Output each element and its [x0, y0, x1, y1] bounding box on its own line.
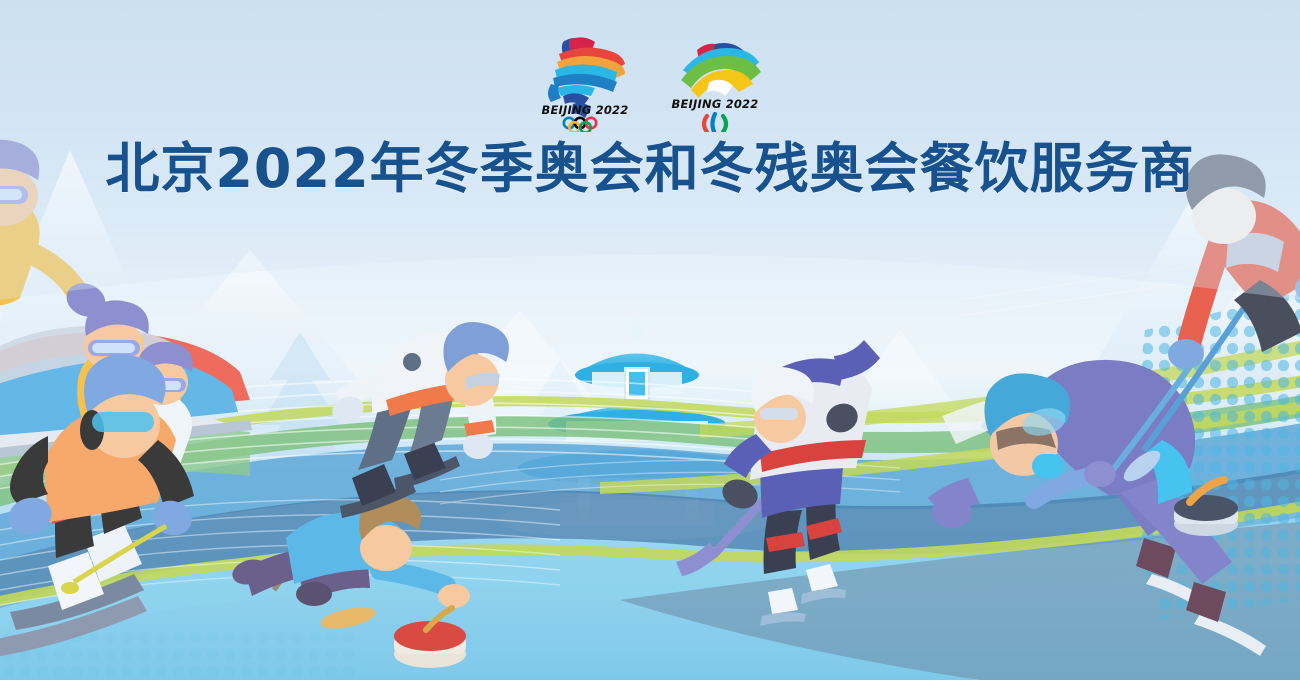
olympic-wordmark: BEIJING 2022 — [542, 103, 629, 117]
leap-icon — [681, 43, 761, 98]
beijing-2022-banner: BEIJING 2022 — [0, 0, 1300, 680]
page-title: 北京2022年冬季奥会和冬残奥会餐饮服务商 — [0, 142, 1300, 196]
olympic-emblem: BEIJING 2022 — [533, 28, 637, 132]
short-track-skater — [329, 322, 509, 518]
agitos-icon — [704, 114, 726, 132]
curler-delivering — [229, 494, 470, 668]
paralympic-emblem: BEIJING 2022 — [663, 28, 767, 132]
olympic-rings — [564, 118, 596, 132]
ice-hockey-player — [676, 340, 880, 626]
emblem-group: BEIJING 2022 — [0, 28, 1300, 132]
paralympic-wordmark: BEIJING 2022 — [672, 97, 759, 111]
